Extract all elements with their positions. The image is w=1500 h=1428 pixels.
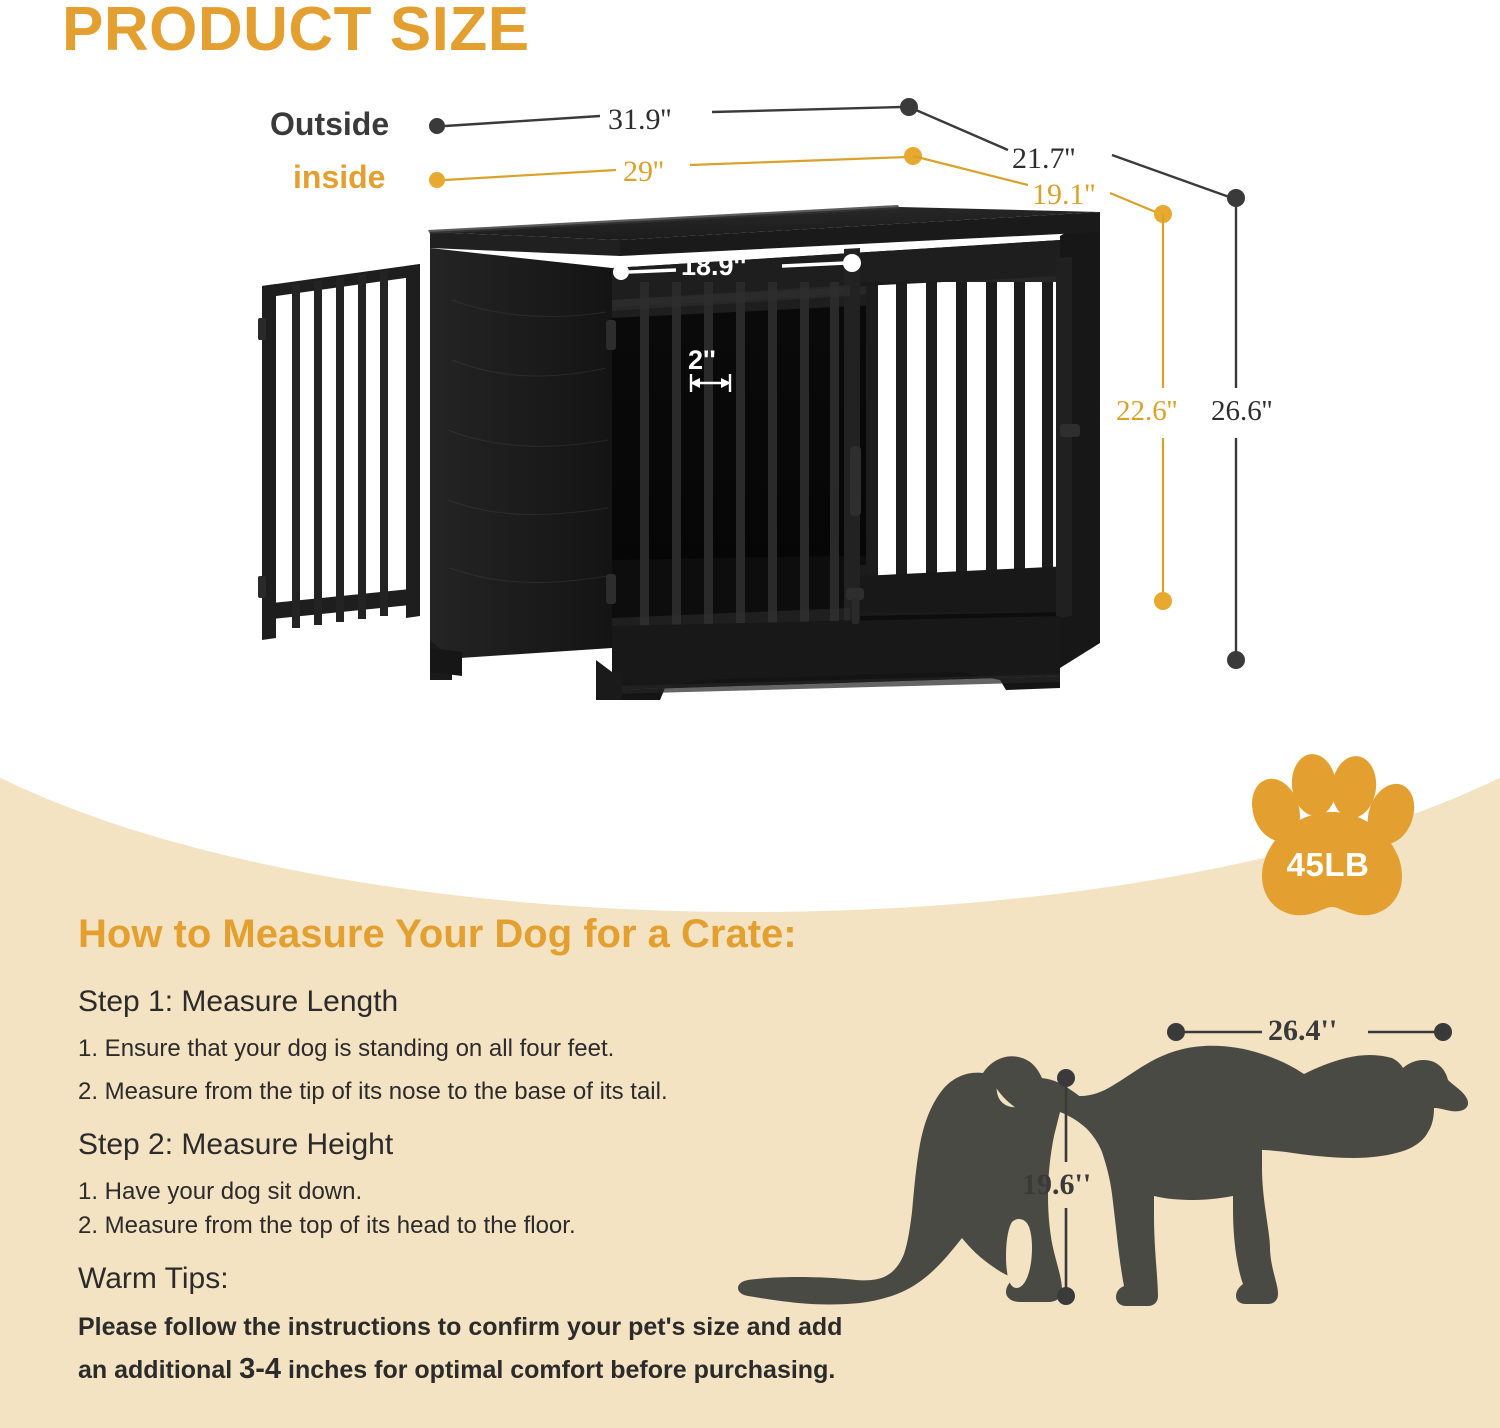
dim-dot-depth-outside: [1227, 189, 1245, 207]
crate-open-door: [258, 264, 420, 640]
dim-dot-inside-right: [904, 147, 922, 165]
weight-badge: 45LB: [1228, 752, 1428, 927]
step1-item-1: 1. Ensure that your dog is standing on a…: [78, 1035, 614, 1063]
warm-tips-line-2-pre: an additional: [78, 1356, 239, 1384]
dim-label-outside-width: 31.9'': [608, 103, 671, 137]
paw-icon: [1228, 752, 1428, 927]
dim-label-dog-length: 26.4'': [1268, 1014, 1337, 1048]
dim-label-inside-depth: 19.1'': [1032, 178, 1095, 212]
step1-heading: Step 1: Measure Length: [78, 985, 398, 1019]
step2-item-1: 1. Have your dog sit down.: [78, 1178, 362, 1206]
dim-dot-door-left: [613, 264, 629, 280]
step2-item-2: 2. Measure from the top of its head to t…: [78, 1212, 576, 1240]
weight-badge-label: 45LB: [1228, 846, 1428, 884]
warm-tips-line-1: Please follow the instructions to confir…: [78, 1313, 842, 1342]
dim-dot-outside-left: [429, 118, 445, 134]
legend-inside-label: inside: [293, 159, 385, 196]
warm-tips-heading: Warm Tips:: [78, 1262, 229, 1296]
dim-label-inside-height: 22.6'': [1116, 395, 1177, 428]
warm-tips-range: 3-4: [239, 1353, 281, 1385]
dim-dot-height-outside: [1227, 651, 1245, 669]
dim-label-outside-height: 26.6'': [1211, 395, 1272, 428]
dim-label-bar-spacing: 2'': [688, 345, 716, 376]
step1-item-2: 2. Measure from the tip of its nose to t…: [78, 1078, 668, 1106]
dim-label-door-width: 18.9'': [681, 251, 746, 282]
dim-dot-door-right: [843, 254, 861, 272]
legend-outside-label: Outside: [270, 106, 389, 143]
dim-label-inside-width: 29'': [623, 155, 664, 189]
warm-tips-line-2: an additional 3-4 inches for optimal com…: [78, 1353, 835, 1386]
guide-heading: How to Measure Your Dog for a Crate:: [78, 912, 797, 957]
dim-dot-height-inside: [1154, 592, 1172, 610]
dim-dot-outside-right: [900, 98, 918, 116]
dim-dot-inside-left: [429, 172, 445, 188]
step2-heading: Step 2: Measure Height: [78, 1128, 393, 1162]
infographic-canvas: PRODUCT SIZE Outside inside: [0, 0, 1500, 1428]
warm-tips-line-2-post: inches for optimal comfort before purcha…: [281, 1356, 835, 1384]
dim-label-dog-height: 19.6'': [1022, 1168, 1091, 1202]
dim-dot-depth-inside: [1154, 205, 1172, 223]
page-title: PRODUCT SIZE: [62, 0, 530, 65]
dim-label-outside-depth: 21.7'': [1012, 142, 1075, 176]
